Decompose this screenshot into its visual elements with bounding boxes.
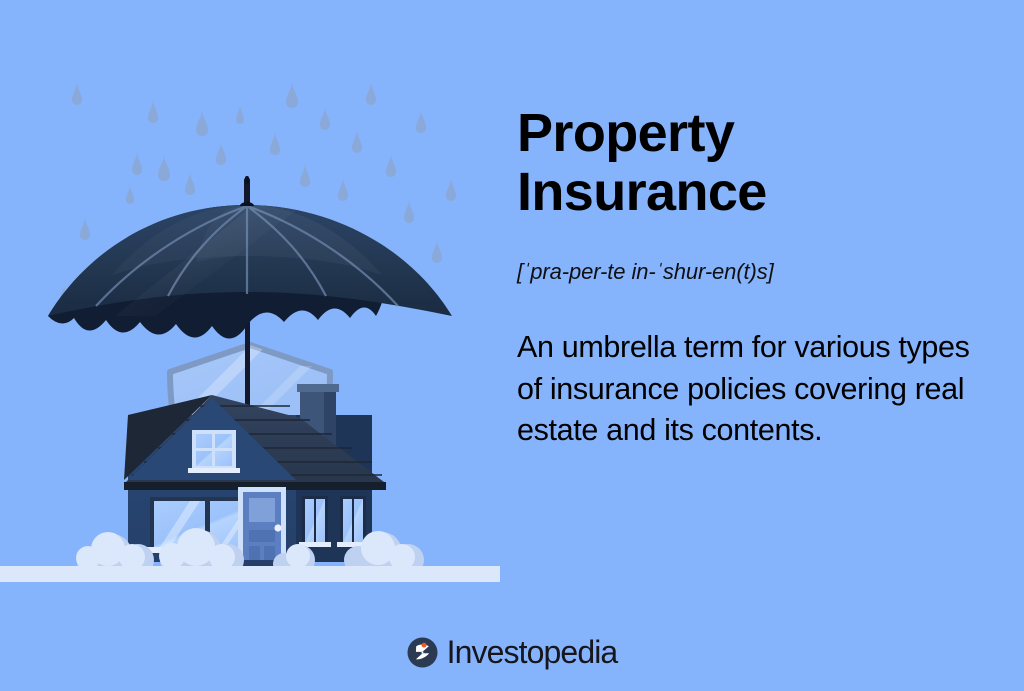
- raindrop: [185, 172, 195, 195]
- raindrop: [286, 82, 298, 108]
- bush: [286, 544, 310, 568]
- raindrop: [366, 82, 376, 105]
- ground: [0, 566, 500, 582]
- umbrella-finial: [245, 176, 249, 184]
- definition-text-column: Property Insurance [ˈpra-per-te in-ˈshur…: [517, 104, 997, 452]
- umbrella-group: [48, 200, 452, 339]
- raindrop: [404, 200, 414, 223]
- raindrop: [80, 217, 90, 240]
- raindrop: [416, 110, 426, 133]
- raindrop: [196, 110, 208, 136]
- pronunciation-text: [ˈpra-per-te in-ˈshur-en(t)s]: [517, 223, 997, 285]
- definition-text: An umbrella term for various types of in…: [517, 285, 997, 452]
- raindrop: [432, 240, 442, 263]
- raindrop: [216, 142, 226, 165]
- side-window-1: [299, 496, 331, 547]
- raindrop: [126, 185, 134, 204]
- raindrop: [270, 132, 280, 155]
- raindrop: [338, 178, 348, 201]
- chimney-cap: [297, 384, 339, 392]
- brand-logo: Investopedia: [0, 636, 1024, 668]
- raindrop: [446, 178, 456, 201]
- umbrella-collar: [240, 202, 254, 206]
- attic-window: [188, 430, 240, 473]
- page-title: Property Insurance: [517, 104, 997, 223]
- raindrop: [72, 82, 82, 105]
- raindrop: [386, 154, 396, 177]
- raindrop: [132, 152, 142, 175]
- raindrop: [352, 130, 362, 153]
- raindrop: [158, 155, 170, 181]
- umbrella-house-illustration: [0, 0, 500, 620]
- raindrop: [236, 105, 244, 124]
- brand-name: Investopedia: [447, 636, 618, 668]
- investopedia-logo-icon: [407, 637, 438, 668]
- definition-card: Property Insurance [ˈpra-per-te in-ˈshur…: [0, 0, 1024, 691]
- raindrop: [320, 107, 330, 130]
- raindrop: [148, 100, 158, 123]
- door-knob: [274, 524, 281, 531]
- house-group: [124, 384, 386, 570]
- raindrop: [300, 164, 310, 187]
